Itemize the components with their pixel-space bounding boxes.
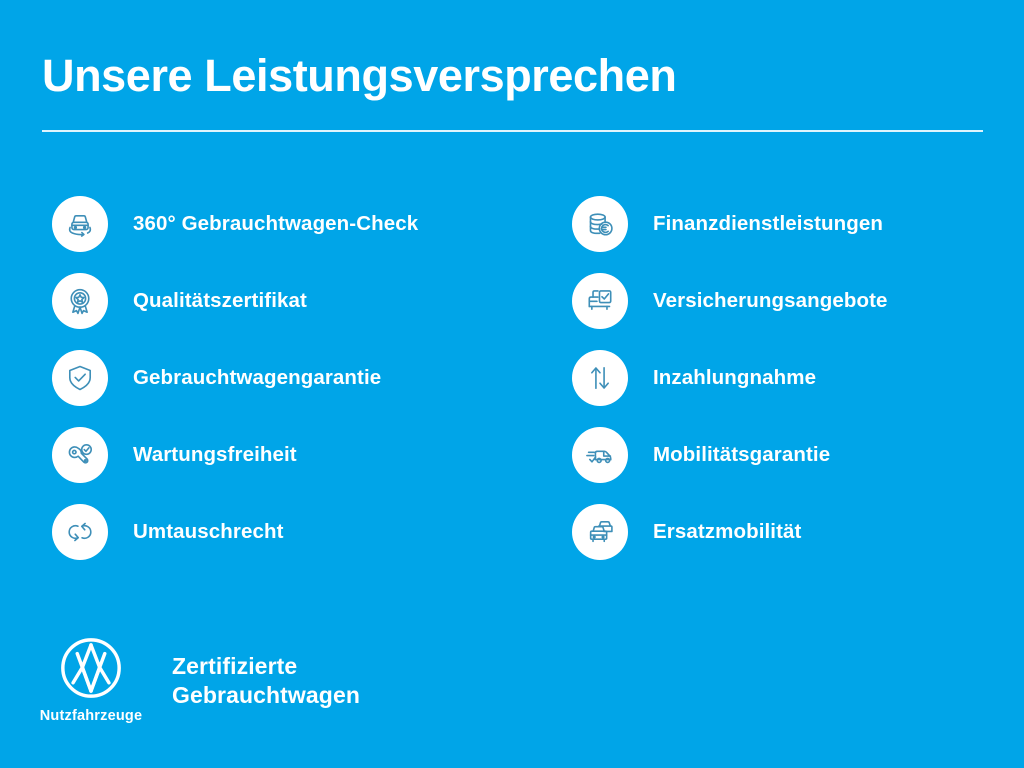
- award-rosette-icon: [52, 273, 108, 329]
- brand-text: Zertifizierte Gebrauchtwagen: [172, 652, 360, 710]
- feature-item-360-check[interactable]: 360° Gebrauchtwagen-Check: [52, 196, 522, 252]
- slide-root: Unsere Leistungsversprechen: [0, 0, 1024, 768]
- feature-item-ersatzmobilitaet[interactable]: Ersatzmobilität: [572, 504, 1002, 560]
- feature-label: Umtauschrecht: [133, 520, 284, 544]
- feature-label: Gebrauchtwagengarantie: [133, 366, 381, 390]
- feature-column-left: 360° Gebrauchtwagen-Check Qualitätszerti…: [52, 196, 522, 581]
- feature-item-inzahlungnahme[interactable]: Inzahlungnahme: [572, 350, 1002, 406]
- feature-label: Inzahlungnahme: [653, 366, 816, 390]
- feature-item-qualitaetszertifikat[interactable]: Qualitätszertifikat: [52, 273, 522, 329]
- van-speed-check-icon: [572, 427, 628, 483]
- car-360-check-icon: [52, 196, 108, 252]
- feature-label: Qualitätszertifikat: [133, 289, 307, 313]
- brand-line-1: Zertifizierte: [172, 652, 360, 681]
- features-section: 360° Gebrauchtwagen-Check Qualitätszerti…: [0, 196, 1024, 581]
- volkswagen-logo-icon: [59, 636, 123, 700]
- brand-sub-label: Nutzfahrzeuge: [40, 708, 143, 724]
- feature-label: Finanzdienstleistungen: [653, 212, 883, 236]
- header: Unsere Leistungsversprechen: [42, 48, 984, 132]
- page-title: Unsere Leistungsversprechen: [42, 48, 984, 104]
- feature-label: Versicherungsangebote: [653, 289, 888, 313]
- feature-column-right: Finanzdienstleistungen Versicheru: [572, 196, 1002, 581]
- feature-label: Wartungsfreiheit: [133, 443, 297, 467]
- exchange-arrows-icon: [52, 504, 108, 560]
- brand-lockup: Nutzfahrzeuge Zertifizierte Gebrauchtwag…: [40, 636, 360, 724]
- feature-label: Ersatzmobilität: [653, 520, 801, 544]
- shield-check-icon: [52, 350, 108, 406]
- feature-item-versicherungsangebote[interactable]: Versicherungsangebote: [572, 273, 1002, 329]
- feature-label: Mobilitätsgarantie: [653, 443, 830, 467]
- coins-euro-icon: [572, 196, 628, 252]
- van-document-check-icon: [572, 273, 628, 329]
- two-cars-icon: [572, 504, 628, 560]
- wrench-check-icon: [52, 427, 108, 483]
- feature-item-gebrauchtwagengarantie[interactable]: Gebrauchtwagengarantie: [52, 350, 522, 406]
- brand-mark: Nutzfahrzeuge: [40, 636, 142, 724]
- feature-item-umtauschrecht[interactable]: Umtauschrecht: [52, 504, 522, 560]
- title-divider: [42, 130, 983, 132]
- feature-item-wartungsfreiheit[interactable]: Wartungsfreiheit: [52, 427, 522, 483]
- feature-item-mobilitaetsgarantie[interactable]: Mobilitätsgarantie: [572, 427, 1002, 483]
- arrows-up-down-icon: [572, 350, 628, 406]
- feature-label: 360° Gebrauchtwagen-Check: [133, 212, 418, 236]
- feature-item-finanzdienstleistungen[interactable]: Finanzdienstleistungen: [572, 196, 1002, 252]
- brand-line-2: Gebrauchtwagen: [172, 681, 360, 710]
